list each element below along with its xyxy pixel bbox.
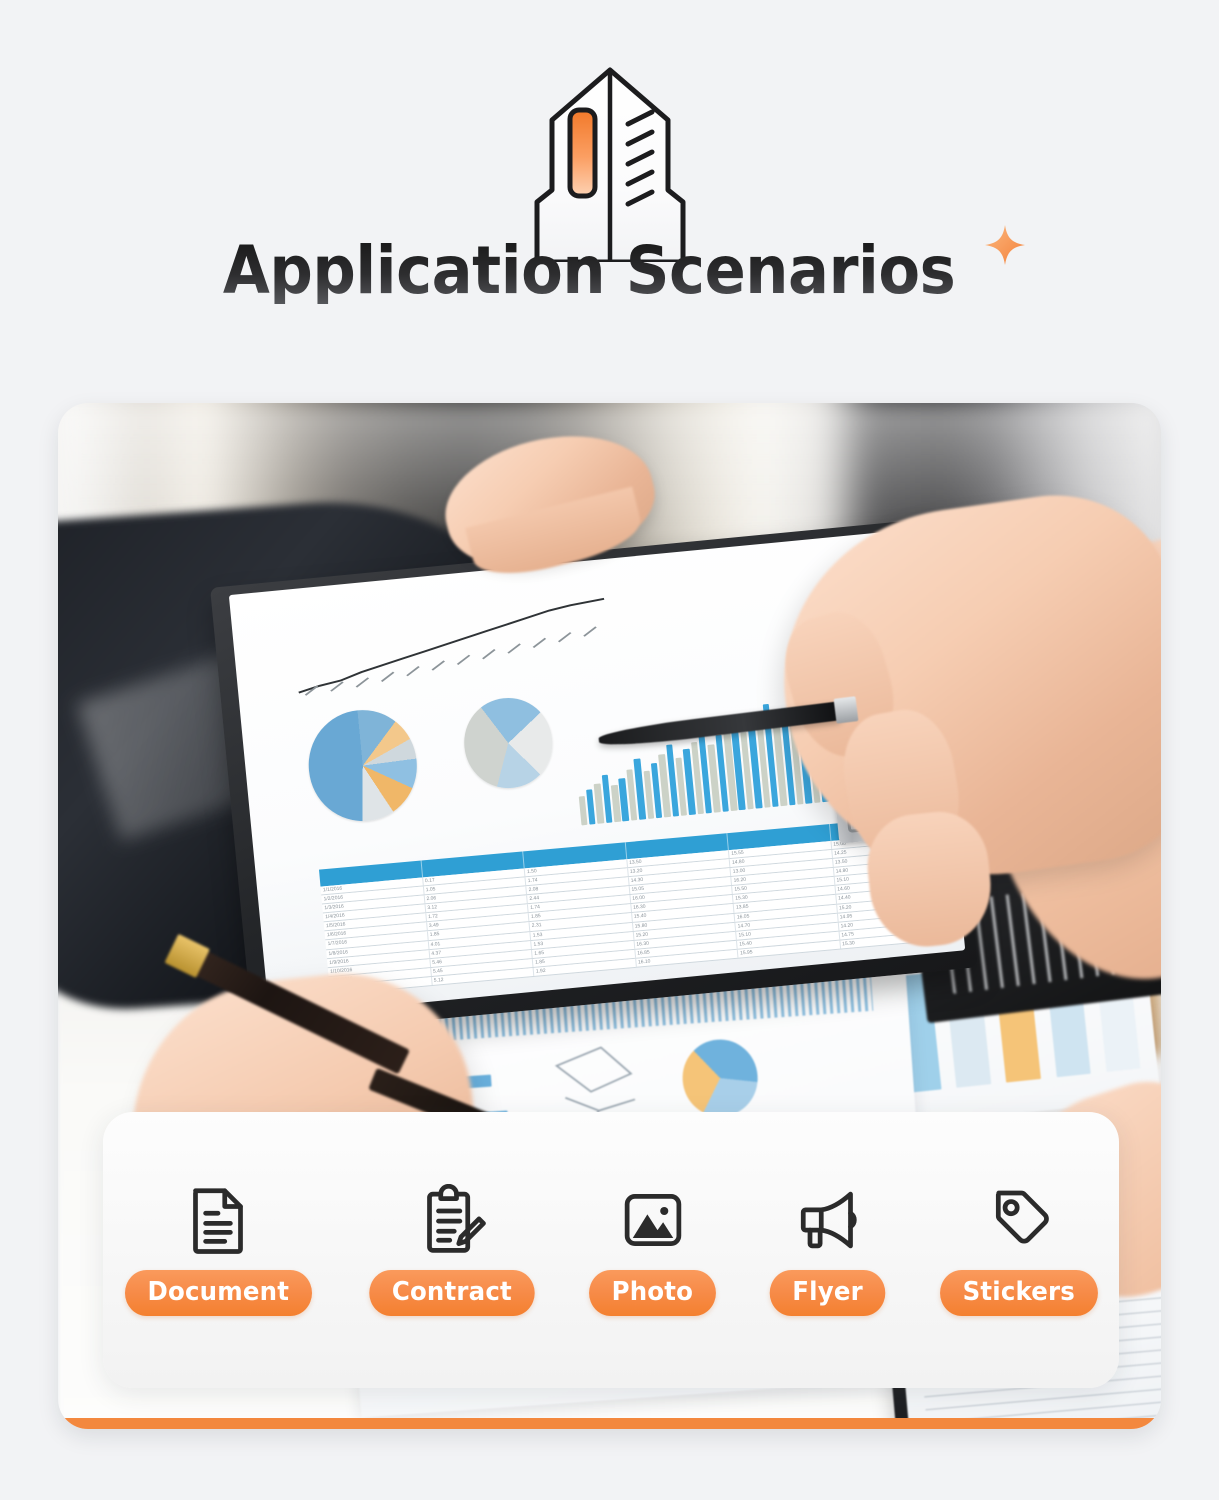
application-scenarios-page: Application Scenarios	[0, 0, 1219, 1500]
page-title: Application Scenarios	[223, 238, 956, 304]
badge-label-flyer: Flyer	[770, 1270, 886, 1316]
desk-paper-pie-1	[680, 1037, 760, 1119]
badge-item-photo[interactable]: Photo	[585, 1184, 720, 1316]
document-icon	[182, 1184, 254, 1256]
report-pie-chart-2	[461, 694, 556, 791]
badge-label-contract: Contract	[369, 1270, 534, 1316]
report-line-chart	[288, 597, 615, 700]
megaphone-icon	[792, 1184, 864, 1256]
badge-item-contract[interactable]: Contract	[364, 1184, 540, 1316]
badge-label-stickers: Stickers	[940, 1270, 1098, 1316]
badge-item-flyer[interactable]: Flyer	[766, 1184, 889, 1316]
title-row: Application Scenarios	[0, 238, 1219, 304]
photo-icon	[617, 1184, 689, 1256]
badge-item-stickers[interactable]: Stickers	[935, 1184, 1103, 1316]
badge-item-document[interactable]: Document	[119, 1184, 318, 1316]
badge-label-document: Document	[125, 1270, 312, 1316]
badge-label-photo: Photo	[590, 1270, 717, 1316]
page-header: Application Scenarios	[0, 0, 1219, 392]
scenario-badge-panel: Document Contract	[103, 1112, 1119, 1388]
tag-icon	[983, 1184, 1055, 1256]
sparkle-star-icon	[982, 222, 1028, 268]
report-pie-chart-1	[304, 705, 422, 825]
contract-icon	[416, 1184, 488, 1256]
